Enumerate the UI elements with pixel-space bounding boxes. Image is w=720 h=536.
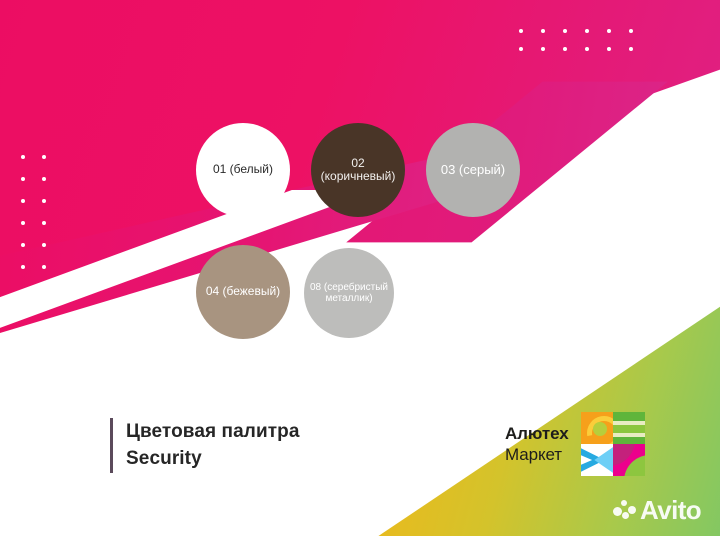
brand-name-line2: Маркет [505, 444, 569, 465]
decor-dot [629, 47, 633, 51]
color-swatch-04-beige[interactable]: 04 (бежевый) [196, 245, 290, 339]
decor-dot [21, 243, 25, 247]
brand-wordmark: Алютех Маркет [505, 423, 569, 466]
dot-grid-left [21, 155, 63, 287]
decor-dot [541, 47, 545, 51]
decor-dot [563, 47, 567, 51]
color-swatch-02-brown[interactable]: 02 (коричневый) [311, 123, 405, 217]
avito-dots-icon [613, 499, 637, 521]
color-swatch-03-gray[interactable]: 03 (серый) [426, 123, 520, 217]
avito-wordmark: Avito [640, 497, 701, 523]
decor-dot [519, 29, 523, 33]
decor-dot [42, 199, 46, 203]
decor-dot [607, 29, 611, 33]
brand-logo[interactable]: Алютех Маркет [505, 412, 645, 476]
logo-petal-icon [613, 444, 645, 476]
decor-dot [21, 155, 25, 159]
caption-block: Цветовая палитра Security [110, 418, 300, 473]
decor-dot [21, 177, 25, 181]
decor-dot [42, 177, 46, 181]
slide-canvas: 01 (белый) 02 (коричневый) 03 (серый) 04… [0, 0, 720, 536]
color-swatch-01-white[interactable]: 01 (белый) [196, 123, 290, 217]
decor-dot [42, 155, 46, 159]
decor-dot [21, 199, 25, 203]
decor-dot [519, 47, 523, 51]
decor-dot [607, 47, 611, 51]
logo-bowtie-icon [581, 444, 613, 476]
decor-dot [629, 29, 633, 33]
decor-dot [42, 243, 46, 247]
avito-watermark: Avito [613, 497, 701, 523]
decor-dot [585, 47, 589, 51]
decor-dot [21, 221, 25, 225]
decor-dot [585, 29, 589, 33]
logo-stripes-icon [613, 412, 645, 444]
caption-accent-rule [110, 418, 113, 473]
decor-dot [42, 221, 46, 225]
brand-mark-icon [581, 412, 645, 476]
decor-dot [541, 29, 545, 33]
page-title: Цветовая палитра Security [126, 418, 300, 473]
decor-dot [21, 265, 25, 269]
color-swatch-08-silver-metallic[interactable]: 08 (серебристый металлик) [304, 248, 394, 338]
decor-dot [42, 265, 46, 269]
brand-name-line1: Алютех [505, 423, 569, 444]
logo-swirl-icon [581, 412, 613, 444]
decor-dot [563, 29, 567, 33]
dot-grid-top-right [519, 29, 651, 65]
